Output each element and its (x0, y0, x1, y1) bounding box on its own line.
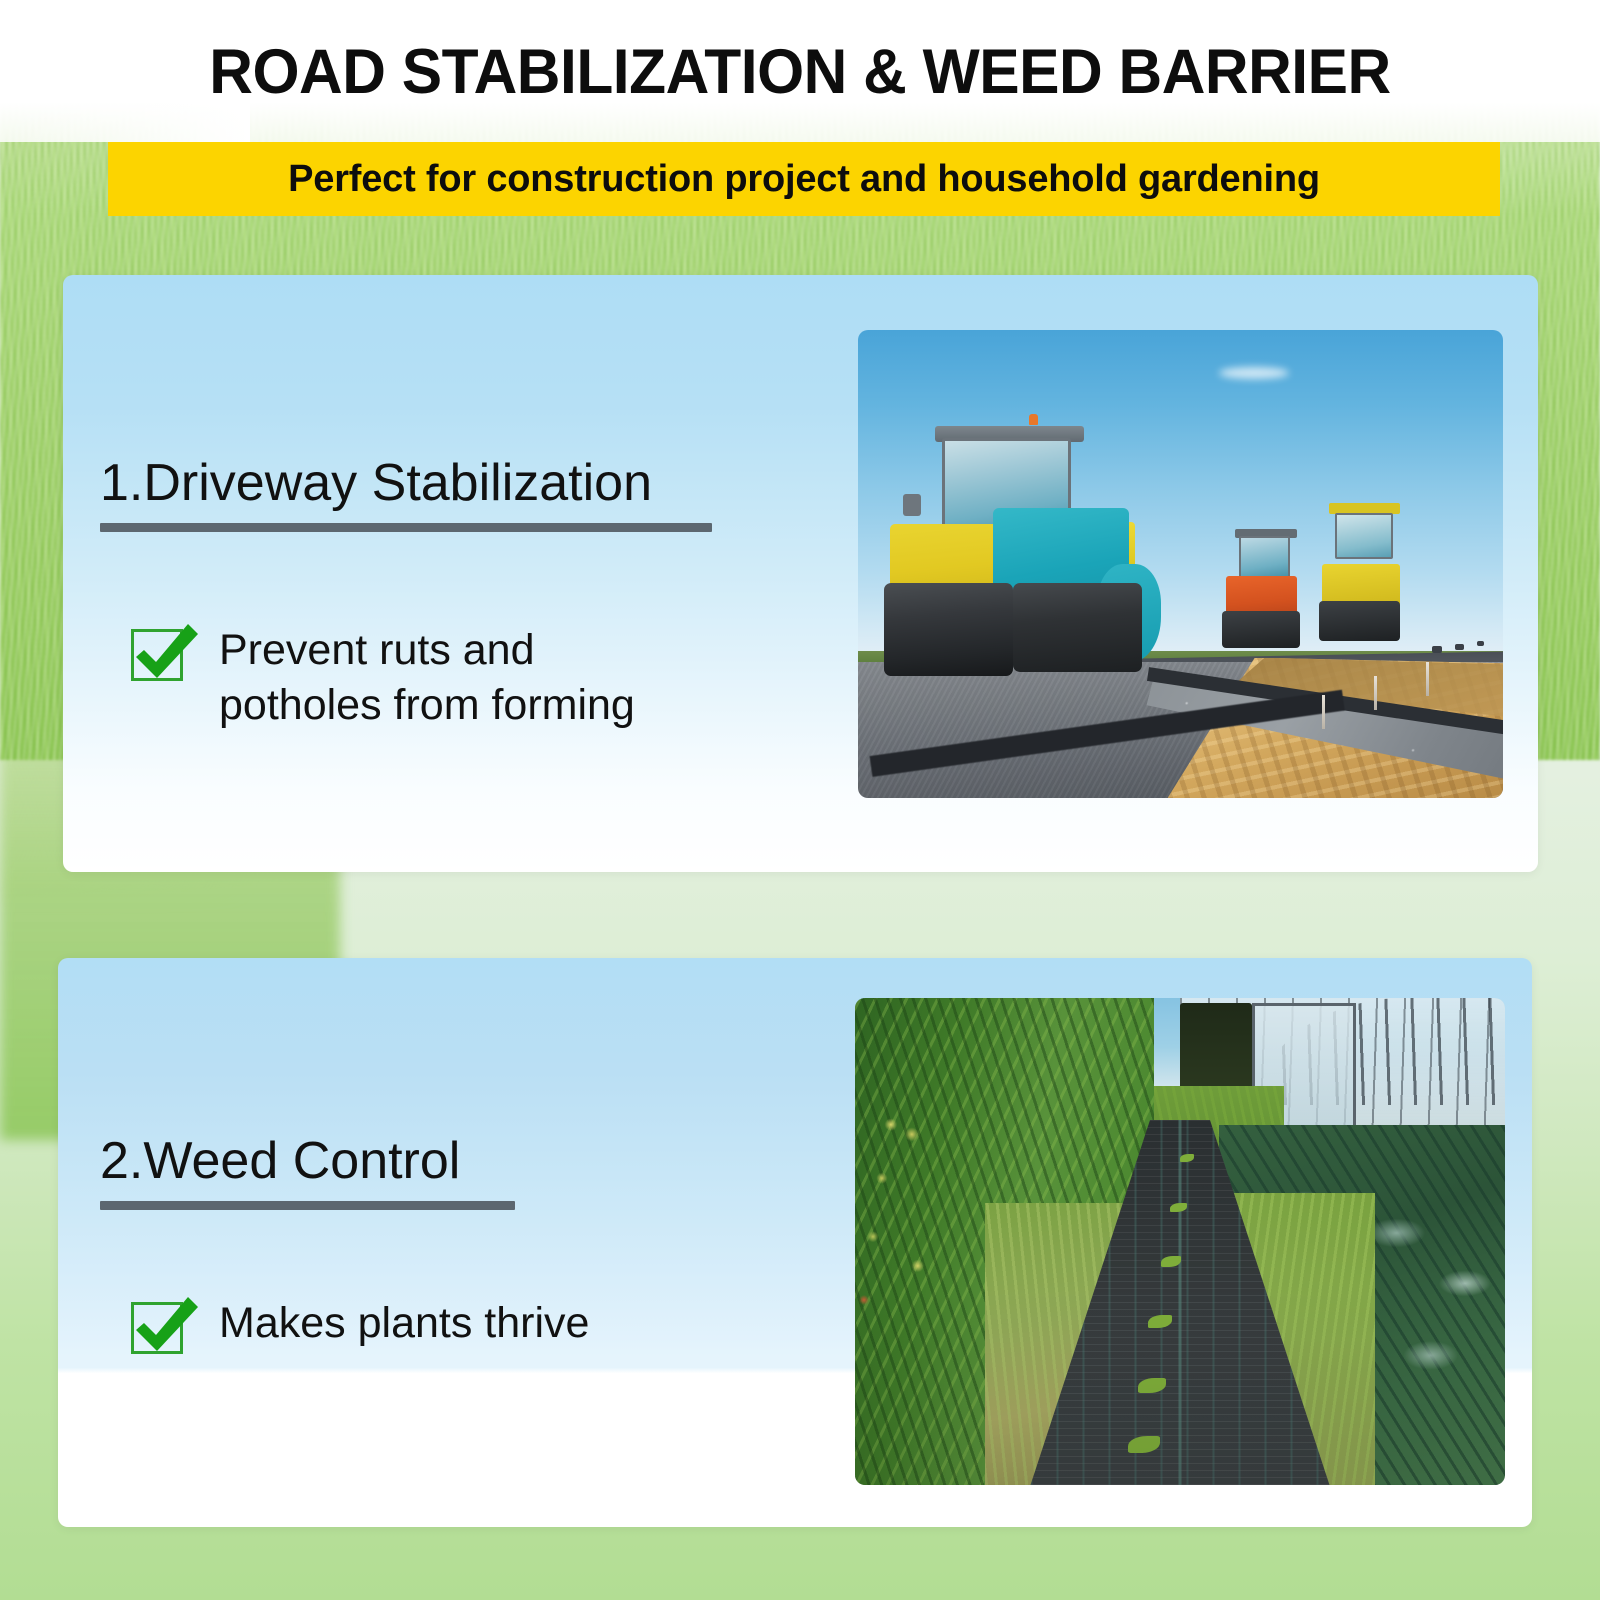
photo-1-roller-yellow-cab (1335, 513, 1393, 560)
photo-1-roller-main-front-drum (884, 583, 1013, 677)
card-2-heading-rule (100, 1201, 515, 1210)
photo-1-roller-red-cab (1239, 536, 1291, 578)
green-check-icon (131, 629, 183, 681)
card-1-heading-rule (100, 523, 712, 532)
card-2-heading-block: 2.Weed Control (100, 1134, 515, 1210)
photo-1-roller-red-drum (1222, 611, 1299, 648)
product-infographic-poster: ROAD STABILIZATION & WEED BARRIER Perfec… (0, 0, 1600, 1600)
card-2-bullet-1-text: Makes plants thrive (219, 1296, 589, 1351)
photo-1-roller-main-rear-drum (1013, 583, 1142, 672)
page-title: ROAD STABILIZATION & WEED BARRIER (32, 36, 1568, 108)
subtitle-text: Perfect for construction project and hou… (288, 158, 1320, 201)
photo-1-roller-main-beacon (1029, 414, 1038, 425)
photo-1-distant-machine (1477, 641, 1484, 646)
card-1-heading-block: 1.Driveway Stabilization (100, 456, 712, 532)
photo-1-survey-stake (1426, 662, 1429, 696)
photo-1-roller-yellow-drum (1319, 601, 1400, 641)
card-1-heading: 1.Driveway Stabilization (100, 456, 712, 511)
photo-1-survey-stake (1374, 676, 1377, 710)
photo-1-roller-main-mirror (903, 494, 921, 516)
green-check-icon (131, 1302, 183, 1354)
feature-card-weed-control: 2.Weed Control Makes plants thrive (58, 958, 1532, 1527)
card-1-photo (858, 330, 1503, 798)
photo-1-distant-machine (1432, 646, 1442, 653)
feature-card-driveway-stabilization: 1.Driveway Stabilization Prevent ruts an… (63, 275, 1538, 872)
card-2-heading: 2.Weed Control (100, 1134, 515, 1189)
card-1-bullet-1: Prevent ruts and potholes from forming (131, 623, 635, 733)
photo-2-shading (855, 998, 1505, 1485)
card-2-bullet-1: Makes plants thrive (131, 1296, 589, 1354)
card-1-bullet-1-text: Prevent ruts and potholes from forming (219, 623, 635, 733)
card-2-photo (855, 998, 1505, 1485)
subtitle-banner: Perfect for construction project and hou… (108, 142, 1500, 216)
photo-1-distant-machine (1455, 644, 1464, 650)
photo-1-survey-stake (1322, 695, 1325, 729)
